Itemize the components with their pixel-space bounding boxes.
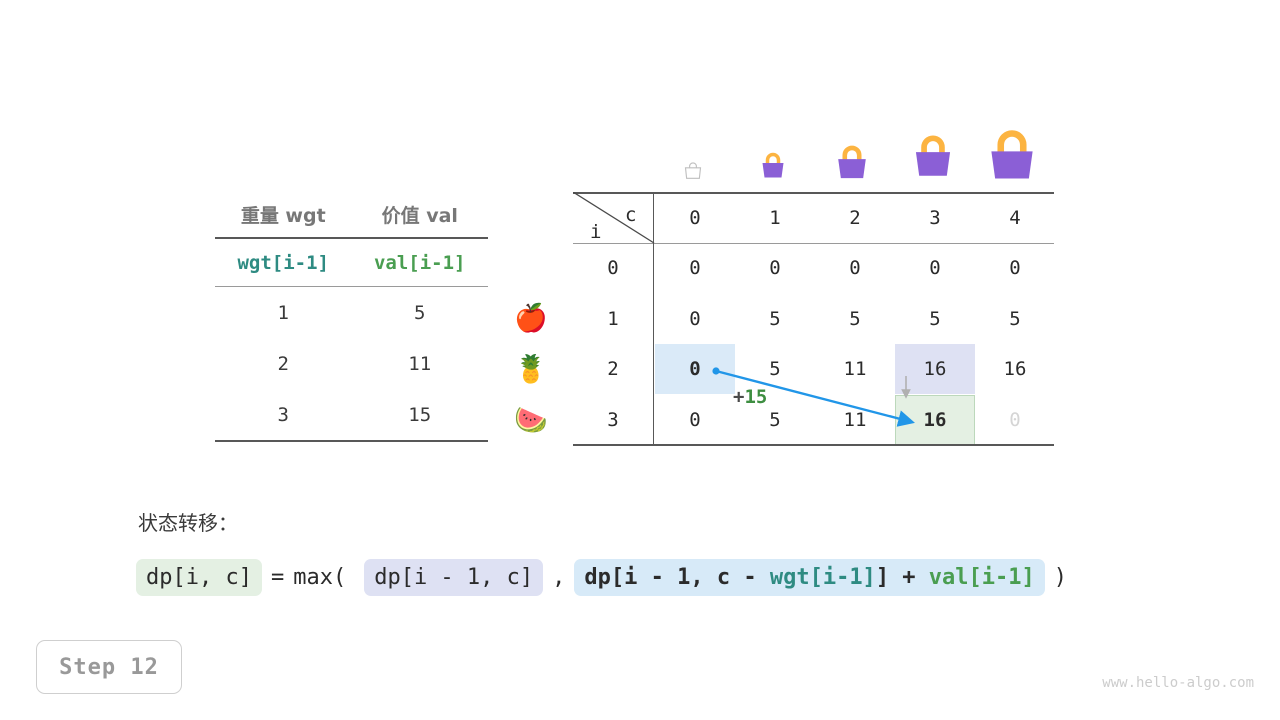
- formula-option-b-mid: ] +: [876, 565, 929, 590]
- dp-row-header-3: 3: [573, 395, 653, 445]
- inherit-down-arrow: [891, 374, 921, 404]
- formula-option-a: dp[i - 1, c]: [364, 559, 543, 596]
- dp-row-header-0: 0: [573, 243, 653, 293]
- dp-cell-2-2: 11: [815, 344, 895, 394]
- bag-icon-4: [982, 126, 1042, 190]
- dp-cell-0-0: 0: [655, 243, 735, 293]
- table-subheader-row: wgt[i-1] val[i-1]: [215, 238, 488, 287]
- formula-target: dp[i, c]: [136, 559, 262, 596]
- dp-col-header-1: 1: [735, 193, 815, 243]
- dp-cell-1-4: 5: [975, 294, 1055, 344]
- dp-cell-2-0: 0: [655, 344, 735, 394]
- dp-cell-1-1: 5: [735, 294, 815, 344]
- dp-cell-0-4: 0: [975, 243, 1055, 293]
- dp-cell-1-3: 5: [895, 294, 975, 344]
- dp-cell-2-4: 16: [975, 344, 1055, 394]
- plus-sign: +: [733, 386, 744, 408]
- header-weight: 重量 wgt: [215, 192, 352, 238]
- formula-option-b-val: val[i-1]: [929, 565, 1035, 590]
- cell-wgt-2: 2: [215, 338, 352, 389]
- formula-comma: ,: [543, 565, 574, 590]
- dp-col-header-2: 2: [815, 193, 895, 243]
- weights-values-grid: 重量 wgt 价值 val wgt[i-1] val[i-1] 1 5 2 11…: [215, 192, 488, 442]
- header-value: 价值 val: [352, 192, 489, 238]
- dp-cell-0-3: 0: [895, 243, 975, 293]
- table-header-row: 重量 wgt 价值 val: [215, 192, 488, 238]
- dp-cell-0-2: 0: [815, 243, 895, 293]
- bag-icon-1: [757, 150, 789, 186]
- bag-icon-empty: [681, 158, 705, 186]
- formula-option-b: dp[i - 1, c - wgt[i-1]] + val[i-1]: [574, 559, 1044, 596]
- dp-cell-1-2: 5: [815, 294, 895, 344]
- state-transition-formula: dp[i, c] = max( dp[i - 1, c] , dp[i - 1,…: [136, 559, 1076, 596]
- dp-cell-1-0: 0: [655, 294, 735, 344]
- formula-close-paren: ): [1045, 565, 1076, 590]
- dp-table: c i 0 1 2 3 4 0 1 2 3 0 0 0 0 0 0 5 5 5 …: [573, 192, 1054, 444]
- pineapple-emoji: 🍍: [512, 351, 550, 389]
- formula-option-b-wgt: wgt[i-1]: [770, 565, 876, 590]
- watermark: www.hello-algo.com: [1102, 675, 1254, 691]
- plus-value-annotation: +15: [733, 386, 767, 408]
- table-row: 3 15: [215, 389, 488, 441]
- step-badge: Step 12: [36, 640, 182, 694]
- cell-val-3: 15: [352, 389, 489, 441]
- formula-equals: =: [262, 565, 293, 590]
- formula-option-b-prefix: dp[i - 1, c -: [584, 565, 769, 590]
- dp-cell-0-1: 0: [735, 243, 815, 293]
- dp-col-header-0: 0: [655, 193, 735, 243]
- cell-val-1: 5: [352, 287, 489, 339]
- table-row: 1 5: [215, 287, 488, 339]
- dp-col-axis-label: c: [625, 204, 636, 226]
- dp-row-header-2: 2: [573, 344, 653, 394]
- dp-col-header-3: 3: [895, 193, 975, 243]
- plus-value: 15: [744, 386, 767, 408]
- state-transition-label: 状态转移：: [138, 507, 238, 536]
- dp-row-header-1: 1: [573, 294, 653, 344]
- weights-values-table: 重量 wgt 价值 val wgt[i-1] val[i-1] 1 5 2 11…: [215, 192, 488, 442]
- bag-icon-2: [831, 142, 873, 188]
- formula-max-open: max(: [293, 565, 346, 590]
- watermelon-emoji: 🍉: [512, 402, 550, 440]
- cell-wgt-3: 3: [215, 389, 352, 441]
- dp-col-header-4: 4: [975, 193, 1055, 243]
- dp-row-axis-label: i: [590, 221, 601, 243]
- bag-icon-3: [907, 131, 959, 187]
- corner-diagonal-line: [573, 192, 655, 244]
- subheader-wgt-expr: wgt[i-1]: [215, 238, 352, 287]
- table-row: 2 11: [215, 338, 488, 389]
- subheader-val-expr: val[i-1]: [352, 238, 489, 287]
- cell-wgt-1: 1: [215, 287, 352, 339]
- dp-cell-3-2: 11: [815, 395, 895, 445]
- cell-val-2: 11: [352, 338, 489, 389]
- apple-emoji: 🍎: [512, 300, 550, 338]
- dp-cell-3-0: 0: [655, 395, 735, 445]
- dp-cell-3-4: 0: [975, 395, 1055, 445]
- dp-grid: c i 0 1 2 3 4 0 1 2 3 0 0 0 0 0 0 5 5 5 …: [573, 192, 1054, 444]
